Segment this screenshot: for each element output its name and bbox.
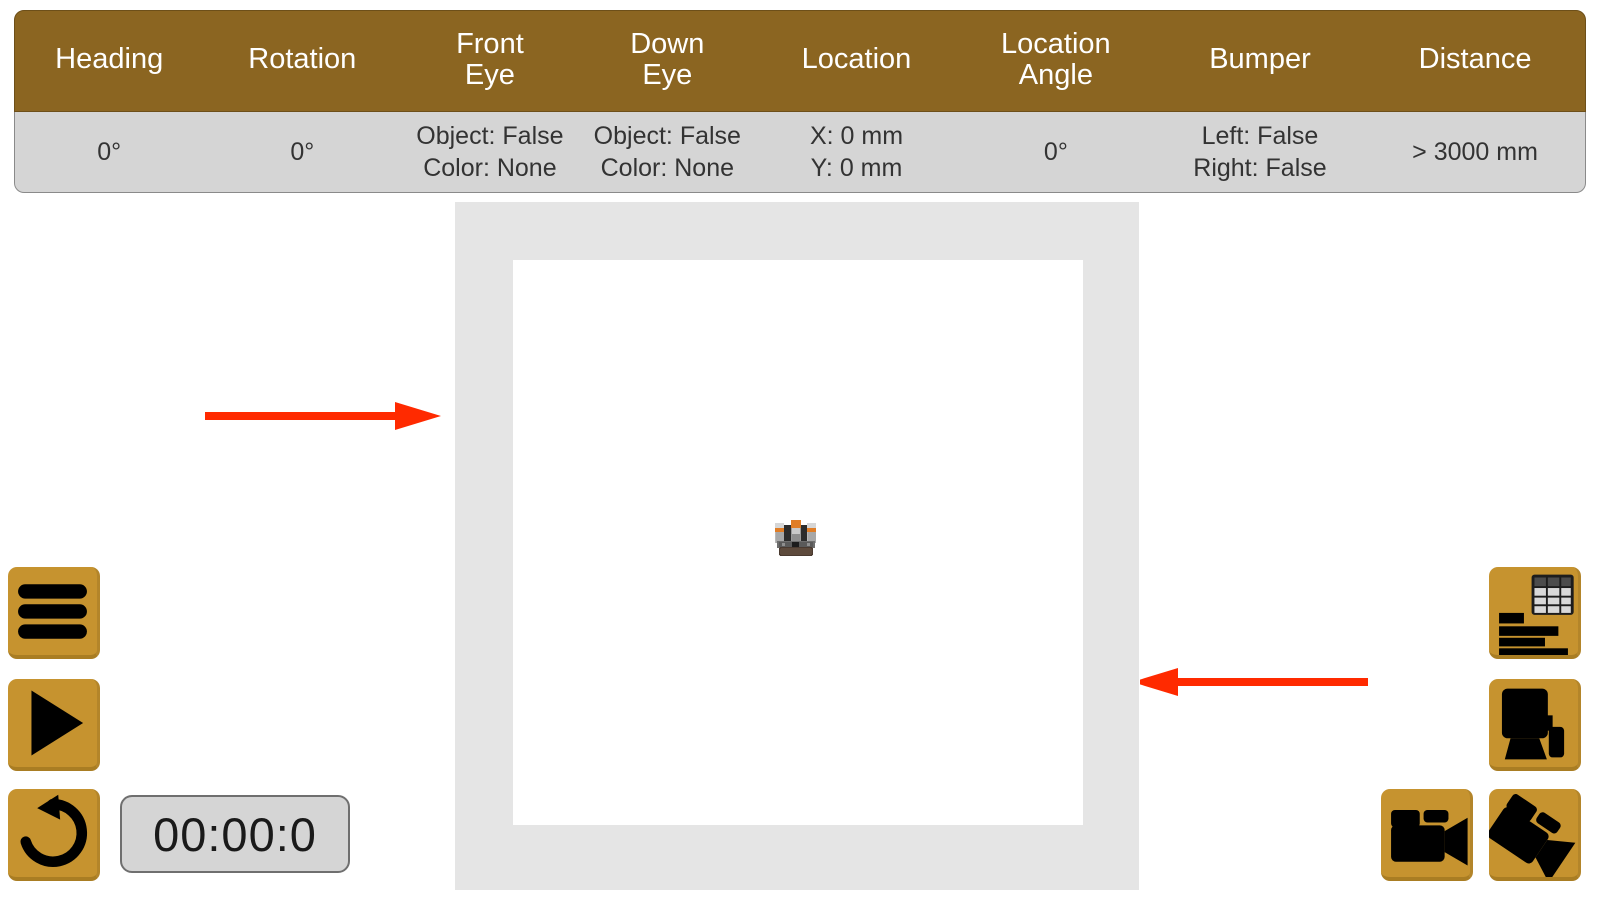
hamburger-menu-icon [8, 567, 97, 655]
robot-sprite[interactable] [773, 517, 819, 557]
telemetry-value-bumper: Left: False Right: False [1155, 112, 1365, 192]
reset-button[interactable] [8, 789, 100, 881]
camera-angled-button[interactable] [1489, 789, 1581, 881]
telemetry-header-location: Location [756, 11, 957, 111]
monitor-light-icon [1489, 679, 1578, 767]
video-camera-tilted-icon [1489, 789, 1578, 877]
telemetry-header-location-angle: Location Angle [957, 11, 1155, 111]
camera-front-button[interactable] [1381, 789, 1473, 881]
telemetry-header-heading: Heading [15, 11, 203, 111]
menu-button[interactable] [8, 567, 100, 659]
video-camera-icon [1381, 789, 1470, 877]
play-button[interactable] [8, 679, 100, 771]
telemetry-value-down-eye: Object: False Color: None [579, 112, 756, 192]
report-button[interactable] [1489, 567, 1581, 659]
telemetry-header-bumper: Bumper [1155, 11, 1365, 111]
telemetry-value-heading: 0° [15, 112, 203, 192]
telemetry-header-rotation: Rotation [203, 11, 401, 111]
telemetry-value-location: X: 0 mm Y: 0 mm [756, 112, 957, 192]
telemetry-header-down-eye: Down Eye [579, 11, 756, 111]
telemetry-value-location-angle: 0° [957, 112, 1155, 192]
timer-display: 00:00:0 [120, 795, 350, 873]
telemetry-value-front-eye: Object: False Color: None [401, 112, 578, 192]
telemetry-value-rotation: 0° [203, 112, 401, 192]
telemetry-header-distance: Distance [1365, 11, 1585, 111]
arrow-pointing-right-icon [205, 398, 445, 434]
telemetry-header-row: Heading Rotation Front Eye Down Eye Loca… [14, 10, 1586, 112]
play-icon [8, 679, 97, 767]
telemetry-value-row: 0° 0° Object: False Color: None Object: … [14, 112, 1586, 193]
inspect-button[interactable] [1489, 679, 1581, 771]
telemetry-header-front-eye: Front Eye [401, 11, 578, 111]
telemetry-value-distance: > 3000 mm [1365, 112, 1585, 192]
reset-rotate-icon [8, 789, 97, 877]
telemetry-panel: Heading Rotation Front Eye Down Eye Loca… [14, 10, 1586, 193]
arrow-pointing-left-icon [1140, 664, 1368, 700]
report-table-icon [1489, 567, 1578, 655]
